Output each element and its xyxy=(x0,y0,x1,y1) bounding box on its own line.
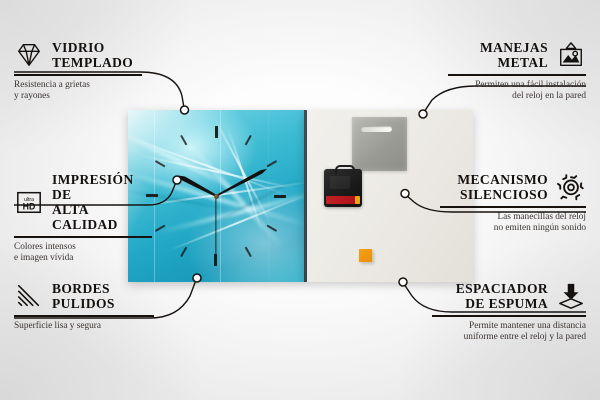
feature-title: MANEJAS METAL xyxy=(480,40,548,70)
panel-edge xyxy=(304,110,307,282)
feature-mecanismo-silencioso[interactable]: MECANISMO SILENCIOSO Las manecillas del … xyxy=(440,172,586,234)
product-image xyxy=(128,110,473,282)
clock-mechanism xyxy=(324,169,362,207)
clock-face xyxy=(128,110,304,282)
clock-tick xyxy=(216,195,286,197)
feature-rule xyxy=(448,74,586,76)
clock-tick xyxy=(146,195,216,197)
feature-rule xyxy=(14,315,154,317)
feature-subtitle: Colores intensos e imagen vívida xyxy=(14,242,152,265)
feature-subtitle: Las manecillas del reloj no emiten ningú… xyxy=(440,212,586,235)
mechanism-hook xyxy=(335,165,355,174)
feature-subtitle: Superficie lisa y segura xyxy=(14,321,154,332)
feature-rule xyxy=(14,236,152,238)
picture-frame-icon xyxy=(556,41,586,69)
feature-title: IMPRESIÓN DE ALTA CALIDAD xyxy=(52,172,152,232)
foam-spacer xyxy=(359,249,372,262)
feature-title: BORDES PULIDOS xyxy=(52,281,115,311)
feature-title: ESPACIADOR DE ESPUMA xyxy=(456,281,548,311)
clock-center-cap xyxy=(214,194,219,199)
infographic-canvas: VIDRIO TEMPLADO Resistencia a grietas y … xyxy=(0,0,600,400)
feature-manejas-metal[interactable]: MANEJAS METAL Permiten una fácil instala… xyxy=(448,40,586,102)
feature-vidrio-templado[interactable]: VIDRIO TEMPLADO Resistencia a grietas y … xyxy=(14,40,142,102)
mechanism-detail xyxy=(330,176,350,189)
ultra-hd-icon: ultra HD xyxy=(14,188,44,216)
diamond-icon xyxy=(14,41,44,69)
feature-rule xyxy=(14,74,142,76)
feature-subtitle: Permiten una fácil instalación del reloj… xyxy=(448,80,586,103)
clock-tick xyxy=(215,126,217,196)
metal-hanger-plate xyxy=(352,117,407,171)
battery-terminal xyxy=(355,196,360,204)
feature-rule xyxy=(440,206,586,208)
feature-bordes-pulidos[interactable]: BORDES PULIDOS Superficie lisa y segura xyxy=(14,281,154,332)
feature-rule xyxy=(432,315,586,317)
feature-impresion-alta-calidad[interactable]: ultra HD IMPRESIÓN DE ALTA CALIDAD Color… xyxy=(14,172,152,264)
feature-espaciador-espuma[interactable]: ESPACIADOR DE ESPUMA Permite mantener un… xyxy=(432,281,586,343)
feature-title: MECANISMO SILENCIOSO xyxy=(457,172,548,202)
feature-subtitle: Resistencia a grietas y rayones xyxy=(14,80,142,103)
arrow-press-icon xyxy=(556,282,586,310)
diagonal-lines-icon xyxy=(14,282,44,310)
hanger-keyhole-slot xyxy=(361,126,392,132)
gear-icon xyxy=(556,173,586,201)
feature-title: VIDRIO TEMPLADO xyxy=(52,40,133,70)
svg-text:HD: HD xyxy=(23,201,36,211)
feature-subtitle: Permite mantener una distancia uniforme … xyxy=(432,321,586,344)
